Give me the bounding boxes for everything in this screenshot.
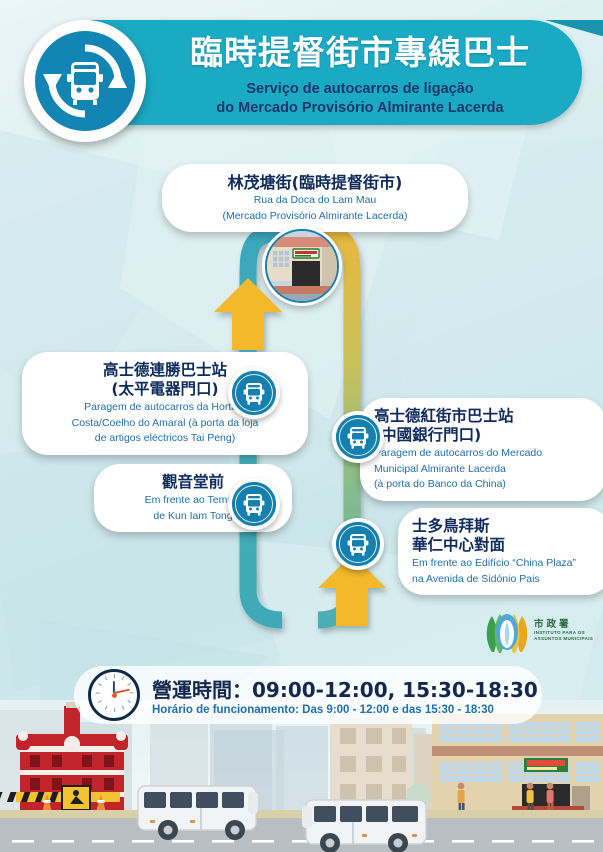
schedule-hours-pt: Horário de funcionamento: Das 9:00 - 12:… [152, 704, 538, 716]
station-name-pt-line1: Rua da Doca do Lam Mau [176, 194, 454, 208]
page-subtitle-line1: Serviço de autocarros de ligação [150, 80, 570, 99]
agency-name-cn: 市政署 [534, 616, 593, 630]
iam-lotus-icon [482, 608, 532, 656]
station-name-pt-line2: (Mercado Provisório Almirante Lacerda) [176, 210, 454, 224]
stop-ring [339, 525, 377, 563]
station-name-cn-line2: 華仁中心對面 [412, 536, 598, 555]
agency-logo: 市政署 INSTITUTO PARA OS ASSUNTOS MUNICIPAI… [482, 608, 594, 660]
stop-ring [339, 418, 377, 456]
page-title-cn: 臨時提督街市專線巴士 [150, 26, 570, 74]
stop-icon-horta-costa[interactable] [228, 367, 280, 419]
schedule-text: 營運時間：09:00-12:00, 15:30-18:30 Horário de… [152, 674, 538, 716]
station-name-pt-line2: Municipal Almirante Lacerda [374, 463, 592, 477]
pedestrian-2 [527, 783, 534, 812]
agency-name-pt-line2: ASSUNTOS MUNICIPAIS [534, 636, 593, 642]
shuttle-bus-right [302, 800, 426, 852]
stop-icon-china-plaza[interactable] [332, 518, 384, 570]
station-name-pt-line3: (à porta do Banco da China) [374, 478, 592, 492]
station-name-pt-line1: Em frente ao Edifício “China Plaza” [412, 557, 598, 571]
header: 臨時提督街市專線巴士 Serviço de autocarros de liga… [0, 6, 603, 136]
poster: 臨時提督街市專線巴士 Serviço de autocarros de liga… [0, 0, 603, 852]
page-title-pt: Serviço de autocarros de ligação do Merc… [150, 80, 570, 118]
bus-loop-icon [35, 31, 135, 131]
schedule-bar: 營運時間：09:00-12:00, 15:30-18:30 Horário de… [74, 666, 542, 724]
page-subtitle-line2: do Mercado Provisório Almirante Lacerda [150, 99, 570, 118]
station-name-cn-line1: 高士德紅街市巴士站 [374, 407, 592, 426]
clock-icon [88, 669, 140, 721]
stop-icon-kun-iam-tong[interactable] [228, 478, 280, 530]
clock-center-pin [112, 693, 117, 698]
station-name-pt-line2: na Avenida de Sidónio Pais [412, 573, 598, 587]
schedule-hours-cn: 營運時間：09:00-12:00, 15:30-18:30 [152, 674, 538, 703]
pedestrian-1 [458, 783, 465, 812]
stop-icon-mercado-vermelho[interactable] [332, 411, 384, 463]
market-photo-bubble [262, 226, 342, 306]
station-name-cn-line2: (中國銀行門口) [374, 426, 592, 445]
market-building-icon [265, 229, 339, 303]
stop-ring [235, 374, 273, 412]
station-name-pt-line3: de artigos eléctricos Tai Peng) [36, 432, 294, 446]
pedestrian-3 [547, 783, 554, 812]
bus-loop-icon-svg [42, 38, 128, 124]
station-name-cn-line1: 士多鳥拜斯 [412, 517, 598, 536]
station-label-mercado-vermelho[interactable]: 高士德紅街市巴士站 (中國銀行門口) Paragem de autocarros… [360, 398, 603, 501]
agency-name: 市政署 INSTITUTO PARA OS ASSUNTOS MUNICIPAI… [534, 616, 593, 642]
bus-loop-logo [24, 20, 146, 142]
station-label-china-plaza[interactable]: 士多鳥拜斯 華仁中心對面 Em frente ao Edifício “Chin… [398, 508, 603, 595]
station-label-lam-mau[interactable]: 林茂塘街(臨時提督街市) Rua da Doca do Lam Mau (Mer… [162, 164, 468, 232]
station-name-pt-line1: Paragem de autocarros do Mercado [374, 447, 592, 461]
station-name-cn: 林茂塘街(臨時提督街市) [176, 173, 454, 192]
stop-ring [235, 485, 273, 523]
